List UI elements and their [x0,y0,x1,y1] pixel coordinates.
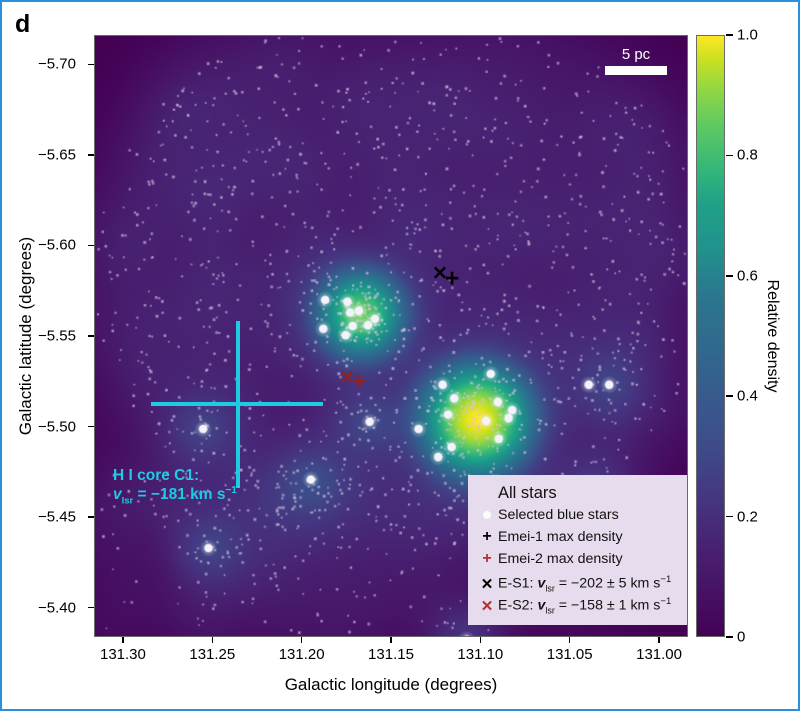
legend-label-e-s2: E-S2: vlsr = −158 ± 1 km s−1 [498,596,671,616]
colorbar-tick [726,395,733,397]
y-axis-tick-label: −5.55 [38,328,76,345]
colorbar [696,35,725,637]
legend-label-e-s1: E-S1: vlsr = −202 ± 5 km s−1 [498,574,671,594]
plus-icon-emei1: + [476,529,498,545]
colorbar-tick-label: 0 [737,629,745,646]
scale-bar: 5 pc [605,46,667,75]
scale-bar-label: 5 pc [605,46,667,63]
figure-panel-d: d H I core C1: vlsr = −181 km s−1 ✕ + ✕ … [0,0,800,711]
colorbar-tick-label: 0.2 [737,508,758,525]
legend-title: All stars [498,484,557,503]
y-axis-tick [88,245,94,247]
y-axis-tick [88,426,94,428]
hi-core-annotation: H I core C1: vlsr = −181 km s−1 [113,466,237,508]
cross-icon-e-s1: ✕ [476,577,498,592]
legend-item-e-s2: ✕ E-S2: vlsr = −158 ± 1 km s−1 [476,595,679,617]
hi-core-crosshair-horizontal [151,402,323,406]
x-axis-tick-label: 131.10 [457,646,503,663]
legend-title-row: All stars [476,482,679,504]
y-axis-tick-label: −5.65 [38,146,76,163]
colorbar-tick-label: 0.4 [737,388,758,405]
x-axis-tick-label: 131.00 [636,646,682,663]
y-axis-tick-label: −5.60 [38,237,76,254]
scale-bar-rect [605,66,667,75]
hi-core-annotation-line2: vlsr = −181 km s−1 [113,485,237,507]
legend-item-emei2: + Emei-2 max density [476,548,679,570]
x-axis-tick [480,637,482,643]
y-axis-tick [88,154,94,156]
colorbar-title: Relative density [763,280,781,393]
hi-core-annotation-line1: H I core C1: [113,466,237,485]
x-axis-tick-label: 131.20 [279,646,325,663]
legend-label-emei2: Emei-2 max density [498,551,623,567]
x-axis-tick [212,637,214,643]
colorbar-tick-label: 0.6 [737,267,758,284]
plus-icon-emei2: + [476,551,498,567]
x-axis-tick-label: 131.30 [100,646,146,663]
legend-label-emei1: Emei-1 max density [498,529,623,545]
plot-area: H I core C1: vlsr = −181 km s−1 ✕ + ✕ + … [94,35,688,637]
y-axis-tick [88,607,94,609]
x-axis-tick [569,637,571,643]
cross-icon-e-s2: ✕ [476,599,498,614]
legend-item-emei1: + Emei-1 max density [476,526,679,548]
colorbar-tick [726,275,733,277]
colorbar-tick [726,516,733,518]
legend-item-selected-blue-stars: Selected blue stars [476,504,679,526]
panel-label: d [15,10,30,39]
x-axis-title: Galactic longitude (degrees) [285,675,498,695]
colorbar-tick [726,636,733,638]
legend-item-e-s1: ✕ E-S1: vlsr = −202 ± 5 km s−1 [476,573,679,595]
x-axis-tick [658,637,660,643]
y-axis-tick-label: −5.45 [38,509,76,526]
y-axis-tick [88,516,94,518]
x-axis-tick [390,637,392,643]
x-axis-tick-label: 131.25 [189,646,235,663]
y-axis-tick-label: −5.70 [38,56,76,73]
legend-label-selected-blue-stars: Selected blue stars [498,507,619,523]
x-axis-tick [301,637,303,643]
x-axis-tick-label: 131.05 [547,646,593,663]
colorbar-tick [726,155,733,157]
colorbar-tick [726,34,733,36]
y-axis-title: Galactic latitude (degrees) [16,237,36,435]
legend: All stars Selected blue stars + Emei-1 m… [468,475,687,625]
x-axis-tick-label: 131.15 [368,646,414,663]
colorbar-tick-label: 1.0 [737,27,758,44]
colorbar-tick-label: 0.8 [737,147,758,164]
y-axis-tick-label: −5.40 [38,599,76,616]
y-axis-tick [88,335,94,337]
y-axis-tick [88,64,94,66]
x-axis-tick [122,637,124,643]
selected-blue-star-icon [476,507,498,523]
y-axis-tick-label: −5.50 [38,418,76,435]
